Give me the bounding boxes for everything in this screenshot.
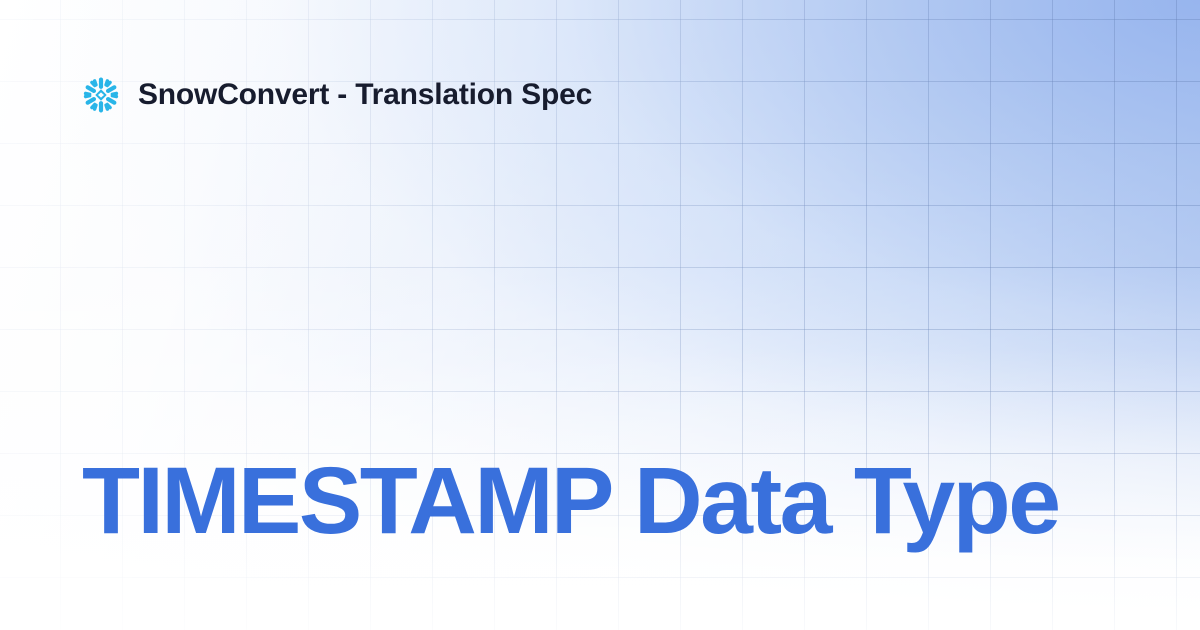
snowflake-icon xyxy=(82,76,120,114)
brand-title: SnowConvert - Translation Spec xyxy=(138,80,592,110)
page-title: TIMESTAMP Data Type xyxy=(82,452,1122,552)
brand-lockup: SnowConvert - Translation Spec xyxy=(82,76,592,114)
og-card: SnowConvert - Translation Spec TIMESTAMP… xyxy=(0,0,1200,630)
